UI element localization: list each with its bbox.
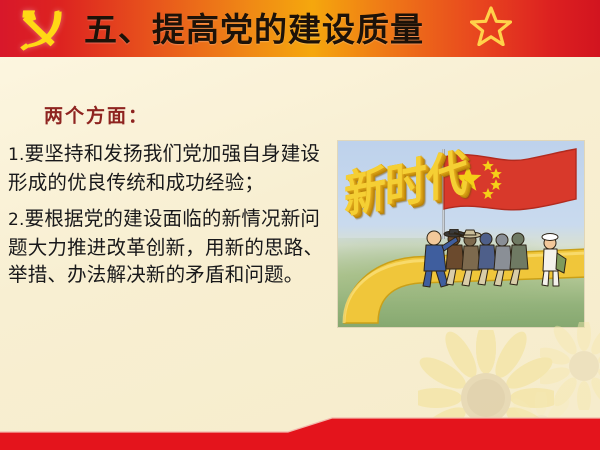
list-item: 2.要根据党的建设面临的新情况新问题大力推进改革创新，用新的思路、举措、办法解决…: [8, 205, 338, 288]
bullet-list: 1.要坚持和发扬我们党加强自身建设形成的优良传统和成功经验； 2.要根据党的建设…: [8, 140, 338, 297]
sunflower-icon: [540, 322, 600, 410]
section-subheading: 两个方面：: [44, 101, 149, 128]
list-item-text: 要坚持和发扬我们党加强自身建设形成的优良传统和成功经验；: [8, 142, 320, 194]
list-item-number: 1.: [8, 145, 25, 165]
list-item-text: 要根据党的建设面临的新情况新问题大力推进改革创新，用新的思路、举措、办法解决新的…: [8, 207, 323, 286]
slide-header-banner: 五、提高党的建设质量: [0, 0, 600, 57]
list-item: 1.要坚持和发扬我们党加强自身建设形成的优良传统和成功经验；: [8, 140, 338, 196]
page-title: 五、提高党的建设质量: [84, 7, 424, 53]
footer-bar: [0, 410, 600, 450]
slide-canvas: 五、提高党的建设质量 两个方面： 1.要坚持和发扬我们党加强自身建设形成的优良传…: [0, 0, 600, 450]
five-point-star-icon: [470, 6, 512, 46]
marching-crowd-figures: [410, 229, 584, 291]
list-item-number: 2.: [8, 210, 25, 230]
hammer-and-sickle-icon: [14, 6, 76, 52]
illustration-new-era: 新时代: [338, 141, 584, 327]
